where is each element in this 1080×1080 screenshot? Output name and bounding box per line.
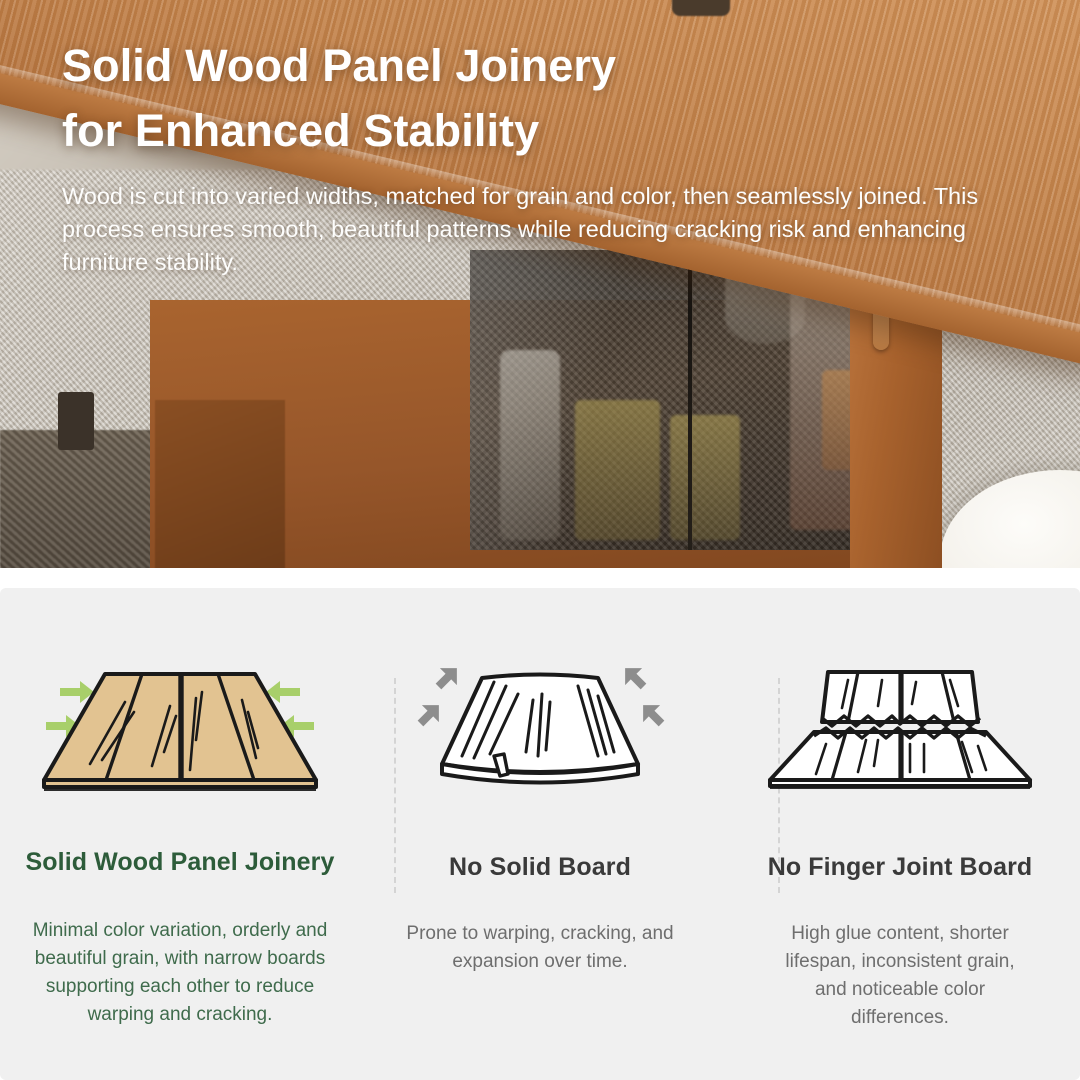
column-description: Prone to warping, cracking, and expansio… bbox=[395, 920, 685, 976]
hero-section: Solid Wood Panel Joinery for Enhanced St… bbox=[0, 0, 1080, 568]
comparison-panel: Solid Wood Panel Joinery Minimal color v… bbox=[0, 588, 1080, 1080]
hero-title: Solid Wood Panel Joinery for Enhanced St… bbox=[62, 34, 1022, 164]
box-item bbox=[670, 415, 740, 540]
warped-solid-board-icon bbox=[390, 660, 690, 805]
top-dark-object bbox=[672, 0, 730, 16]
promo-page: Solid Wood Panel Joinery for Enhanced St… bbox=[0, 0, 1080, 1080]
glass-door-mullion bbox=[688, 250, 692, 550]
comparison-columns: Solid Wood Panel Joinery Minimal color v… bbox=[0, 588, 1080, 1080]
column-description: High glue content, shorter lifespan, inc… bbox=[775, 920, 1025, 1032]
comparison-column-no-finger-joint-board: No Finger Joint Board High glue content,… bbox=[720, 588, 1080, 1080]
column-title: No Finger Joint Board bbox=[768, 853, 1033, 882]
finger-joint-board-icon bbox=[750, 660, 1050, 805]
column-title: No Solid Board bbox=[449, 853, 631, 882]
comparison-column-no-solid-board: No Solid Board Prone to warping, crackin… bbox=[360, 588, 720, 1080]
comparison-column-solid-wood-panel-joinery: Solid Wood Panel Joinery Minimal color v… bbox=[0, 588, 360, 1080]
hero-title-line-2: for Enhanced Stability bbox=[62, 99, 1022, 164]
wood-panel-joinery-icon bbox=[30, 660, 330, 805]
hero-subtitle: Wood is cut into varied widths, matched … bbox=[62, 180, 997, 280]
cabinet-foot bbox=[58, 392, 94, 450]
column-title: Solid Wood Panel Joinery bbox=[26, 848, 335, 877]
cabinet-left-panel bbox=[155, 400, 285, 568]
hero-text-block: Solid Wood Panel Joinery for Enhanced St… bbox=[62, 34, 1022, 280]
column-description: Minimal color variation, orderly and bea… bbox=[30, 917, 330, 1029]
hero-title-line-1: Solid Wood Panel Joinery bbox=[62, 34, 1022, 99]
